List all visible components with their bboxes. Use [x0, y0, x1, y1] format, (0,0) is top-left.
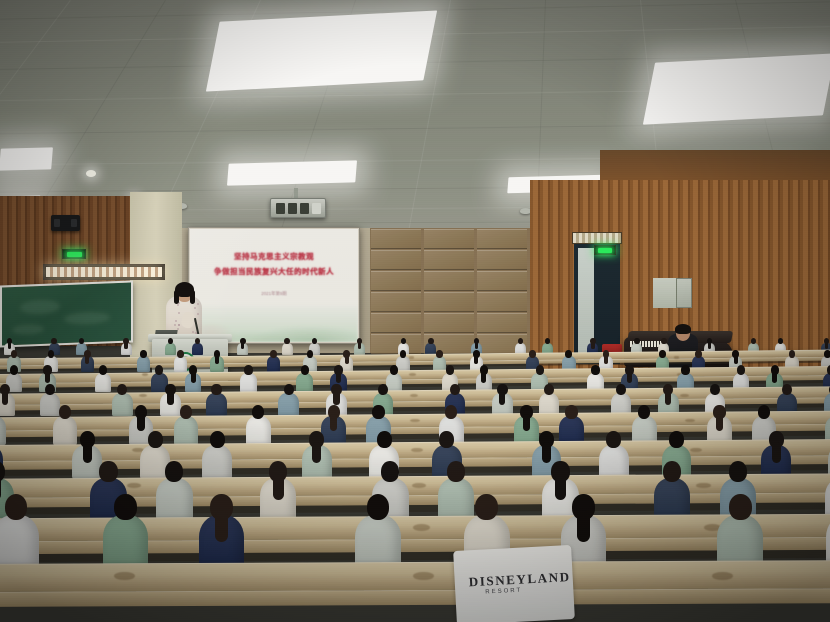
desk-wood-knot — [142, 373, 149, 376]
exit-sign-left — [62, 249, 86, 259]
audience-member-head — [10, 365, 18, 375]
audience-member-head — [301, 365, 309, 375]
blouse-pattern-dot — [197, 303, 199, 305]
audience-member-head — [270, 350, 277, 358]
audience-member-body — [282, 343, 293, 356]
audience-member-body — [174, 416, 199, 445]
audience-member-hair — [215, 510, 229, 543]
audience-member-head — [446, 365, 454, 375]
audience-member-head — [545, 338, 550, 344]
slide-title-line-2: 争做担当民族复兴大任的时代新人 — [190, 266, 358, 277]
desk-wood-knot — [680, 394, 688, 397]
audience-member-hair — [345, 354, 349, 364]
blouse-pattern-dot — [197, 313, 199, 315]
audience-member-hair — [627, 371, 632, 383]
audience-member-head — [99, 461, 117, 482]
projector — [270, 198, 326, 218]
wall-panel-cell — [424, 313, 474, 333]
audience-member-head — [307, 350, 314, 358]
audience-member-hair — [273, 474, 284, 500]
audience-seating-area — [0, 340, 830, 622]
audience-member-head — [165, 461, 183, 482]
audience-member-hair — [83, 442, 92, 464]
audience-member-body — [267, 356, 281, 372]
audience-member-head — [751, 338, 756, 344]
audience-member-hair — [542, 442, 551, 464]
wall-panel-cell — [477, 292, 527, 312]
audience-member-head — [140, 350, 147, 358]
wall-panel-cell — [371, 292, 421, 312]
audience-member-head — [51, 338, 56, 344]
audience-member-head — [606, 431, 621, 448]
audience-member-hair — [665, 391, 671, 406]
audience-member-hair — [772, 442, 781, 464]
audience-member-hair — [591, 341, 594, 349]
audience-member-head — [591, 365, 599, 375]
wall-panel-cell — [424, 229, 474, 249]
audience-member-body — [103, 515, 149, 568]
ceiling-downlight-1 — [86, 170, 96, 177]
slide-content: 坚持马克思主义宗教观 争做担当民族复兴大任的时代新人 2021年第9期 — [190, 229, 358, 342]
tote-bag-subtext: RESORT — [485, 588, 522, 596]
blouse-pattern-dot — [177, 304, 179, 306]
audience-member-head — [536, 365, 544, 375]
audience-member-head — [377, 431, 392, 448]
audience-member-hair — [312, 442, 321, 464]
audience-member-head — [710, 384, 720, 396]
audience-member-head — [367, 494, 390, 520]
audience-member-body — [240, 373, 257, 392]
audience-member-hair — [734, 354, 738, 364]
doorway-header-panel — [572, 232, 622, 244]
audience-member-head — [634, 338, 639, 344]
audience-member-body — [438, 478, 474, 520]
audience-member-hair — [8, 341, 11, 349]
blouse-pattern-dot — [178, 312, 180, 314]
presenter-hair-left — [174, 290, 179, 304]
desk-wood-knot — [409, 373, 416, 376]
audience-member-head — [824, 350, 830, 358]
audience-member-hair — [475, 341, 478, 349]
wall-panel-cell — [477, 313, 527, 333]
slide-title-line-1: 坚持马克思主义宗教观 — [190, 251, 358, 262]
audience-member-body — [53, 416, 78, 445]
audience-member-head — [59, 405, 71, 419]
audience-member-head — [114, 494, 137, 520]
audience-member-head — [284, 338, 289, 344]
audience-member-body — [192, 343, 203, 356]
audience-member-head — [210, 431, 225, 448]
audience-member-hair — [555, 474, 566, 500]
audience-member-head — [428, 338, 433, 344]
audience-member-hair — [716, 414, 723, 432]
audience-member-head — [729, 494, 752, 520]
audience-member-body — [0, 515, 39, 568]
wall-panel-cell — [424, 250, 474, 270]
ceiling-panel-light-3 — [0, 147, 53, 170]
audience-member-head — [663, 461, 681, 482]
presenter-hair-right — [190, 290, 195, 304]
blouse-pattern-dot — [178, 324, 180, 326]
audience-member-head — [450, 384, 460, 396]
audience-member-head — [211, 384, 221, 396]
wall-panel-cell — [371, 250, 421, 270]
wall-speaker — [51, 215, 80, 231]
audience-member-head — [372, 405, 384, 419]
audience-member-head — [244, 365, 252, 375]
audience-member-hair — [215, 354, 219, 364]
slide-date-line: 2021年第9期 — [190, 291, 358, 297]
blouse-pattern-dot — [192, 331, 194, 333]
audience-member-body — [206, 393, 226, 416]
audience-member-hair — [333, 391, 339, 406]
audience-member-head — [475, 494, 498, 520]
audience-member-head — [48, 350, 55, 358]
seated-attendee-hair — [675, 324, 691, 334]
audience-member-head — [148, 431, 163, 448]
audience-member-body — [95, 373, 112, 392]
blouse-pattern-dot — [175, 320, 177, 322]
audience-member-head — [252, 405, 264, 419]
audience-member-body — [246, 416, 271, 445]
audience-member-hair — [45, 371, 50, 383]
wall-panel-cell — [371, 271, 421, 291]
desk-wood-knot — [114, 572, 135, 580]
audience-member-head — [681, 365, 689, 375]
ceiling-panel-light-4 — [227, 160, 357, 185]
audience-member-head — [789, 350, 796, 358]
audience-member-head — [695, 350, 702, 358]
wall-panel-cell — [477, 250, 527, 270]
audience-member-head — [436, 350, 443, 358]
audience-member-head — [729, 461, 747, 482]
audience-member-hair — [523, 414, 530, 432]
wall-panel-cell — [477, 271, 527, 291]
audience-member-body — [717, 515, 763, 568]
audience-member-hair — [85, 354, 89, 364]
desk-wood-knot — [413, 524, 430, 531]
audience-member-head — [529, 350, 536, 358]
audience-member-body — [296, 373, 313, 392]
audience-member-head — [447, 461, 465, 482]
audience-member-head — [661, 338, 666, 344]
audience-member-head — [390, 365, 398, 375]
audience-member-hair — [481, 371, 486, 383]
audience-member-hair — [330, 414, 337, 432]
blouse-pattern-dot — [174, 324, 176, 326]
lecture-hall-photo: 坚持马克思主义宗教观 争做担当民族复兴大任的时代新人 2021年第9期 DISN… — [0, 0, 830, 622]
wall-panel-cell — [371, 229, 421, 249]
audience-member-hair — [167, 391, 173, 406]
chalkboard — [0, 280, 133, 347]
ceiling-panel-light-2 — [643, 53, 830, 124]
audience-member-body — [165, 343, 176, 356]
desk-wood-knot — [409, 356, 414, 358]
audience-member-hair — [577, 510, 591, 543]
audience-member-body — [355, 515, 401, 568]
audience-member-hair — [137, 414, 144, 432]
exit-sign-right — [594, 245, 616, 255]
audience-member-head — [737, 365, 745, 375]
tote-bag: DISNEYLAND RESORT — [453, 545, 575, 622]
desk-wood-knot — [696, 483, 710, 489]
chalkboard-light-lamps — [46, 267, 162, 277]
desk-front-panel — [0, 588, 830, 608]
audience-member-head — [99, 365, 107, 375]
audience-member-hair — [772, 371, 777, 383]
audience-member-hair — [708, 341, 711, 349]
audience-member-body — [202, 445, 232, 480]
audience-member-hair — [825, 341, 828, 349]
audience-member-head — [177, 350, 184, 358]
audience-member-head — [544, 384, 554, 396]
audience-member-head — [312, 338, 317, 344]
desk-wood-knot — [413, 572, 434, 580]
blouse-pattern-dot — [194, 307, 196, 309]
audience-member-head — [378, 384, 388, 396]
audience-member-head — [669, 431, 684, 448]
audience-member-head — [778, 338, 783, 344]
wall-acoustic-panel-grid — [370, 228, 530, 353]
audience-member-head — [659, 350, 666, 358]
audience-member-hair — [604, 354, 608, 364]
audience-member-head — [180, 405, 192, 419]
wall-panel-cell — [477, 229, 527, 249]
ceiling-panel-light-1 — [206, 10, 437, 91]
audience-member-hair — [191, 371, 196, 383]
audience-member-body — [40, 393, 60, 416]
audience-member-hair — [124, 341, 127, 349]
desk-wood-knot — [674, 356, 679, 358]
audience-member-head — [5, 494, 28, 520]
audience-member-body — [278, 393, 298, 416]
audience-member-hair — [499, 391, 505, 406]
audience-member-head — [284, 384, 294, 396]
audience-member-hair — [336, 371, 341, 383]
audience-member-body — [386, 373, 403, 392]
audience-member-head — [565, 350, 572, 358]
audience-member-body — [156, 478, 192, 520]
audience-member-head — [400, 350, 407, 358]
audience-member-head — [758, 405, 770, 419]
audience-member-hair — [474, 354, 478, 364]
wall-panel-cell — [424, 292, 474, 312]
electrical-cabinet-door[interactable] — [653, 278, 677, 308]
audience-member-hair — [358, 341, 361, 349]
audience-member-body — [112, 393, 132, 416]
wall-panel-cell — [424, 271, 474, 291]
audience-member-head — [11, 350, 18, 358]
audience-member-head — [565, 405, 577, 419]
audience-member-head — [518, 338, 523, 344]
audience-member-head — [155, 365, 163, 375]
audience-member-head — [616, 384, 626, 396]
audience-member-head — [79, 338, 84, 344]
audience-member-body — [137, 356, 151, 372]
wall-panel-cell — [371, 313, 421, 333]
audience-member-body — [174, 356, 188, 372]
audience-member-hair — [2, 391, 8, 406]
